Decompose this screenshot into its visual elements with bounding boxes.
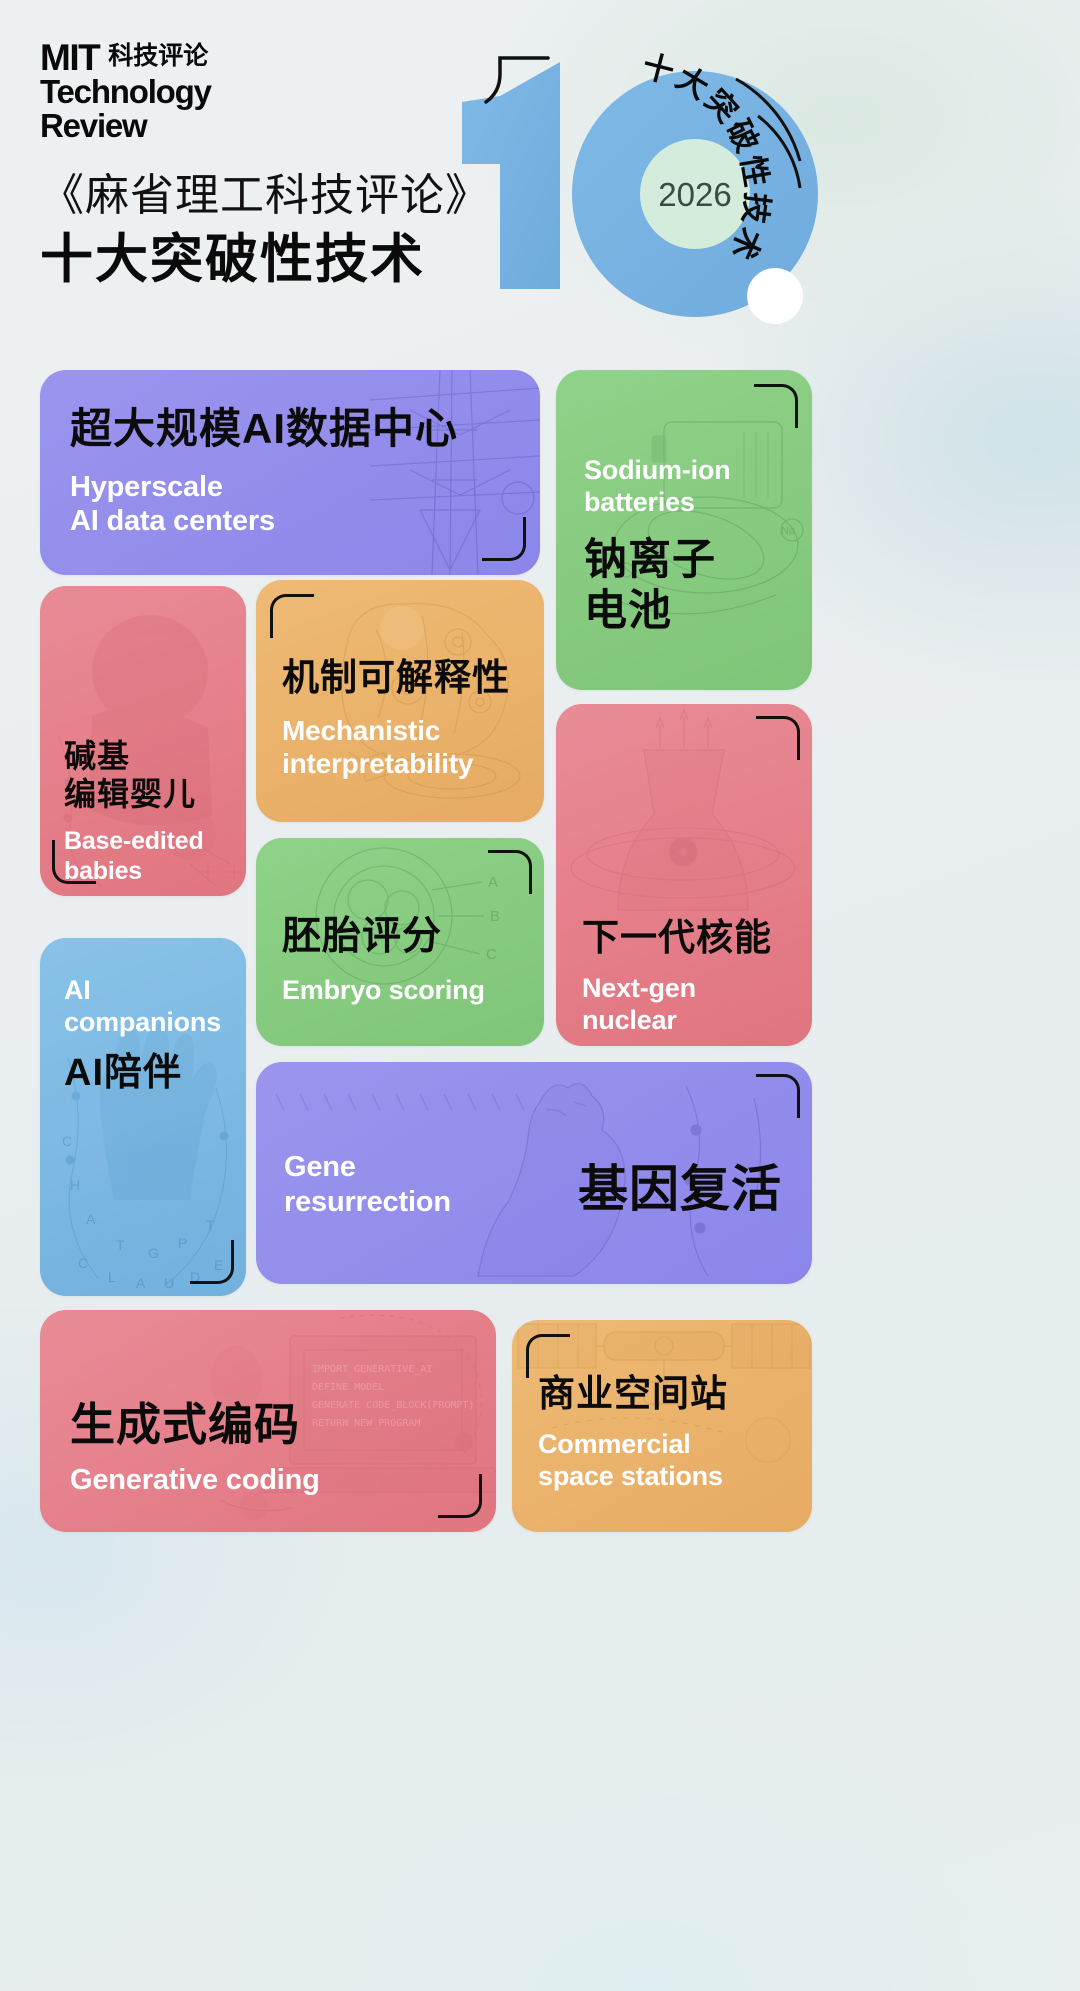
corner-bracket-icon xyxy=(190,1240,234,1284)
card-commercial-space-stations[interactable]: 商业空间站 Commercial space stations xyxy=(512,1320,812,1532)
card-subtitle-en-line2: resurrection xyxy=(284,1185,451,1220)
card-title-cn: 超大规模AI数据中心 xyxy=(70,404,458,454)
card-subtitle-en-line1: AI xyxy=(64,974,221,1006)
title-publication-name: 《麻省理工科技评论》 xyxy=(40,168,490,223)
corner-bracket-icon xyxy=(756,1074,800,1118)
card-next-gen-nuclear[interactable]: 下一代核能 Next-gen nuclear xyxy=(556,704,812,1046)
page-title: 《麻省理工科技评论》 十大突破性技术 xyxy=(40,168,490,293)
dna-letter-g: G xyxy=(148,1245,159,1261)
dna-letter-c2: C xyxy=(78,1255,88,1271)
corner-bracket-icon xyxy=(270,594,314,638)
dna-letter-a2: A xyxy=(136,1275,146,1291)
badge-digit-one xyxy=(462,62,560,289)
dna-letter-h: H xyxy=(70,1177,80,1193)
logo-mit-text: MIT xyxy=(40,40,99,75)
code-line-2: DEFINE MODEL xyxy=(312,1382,384,1393)
card-mechanistic-interpretability[interactable]: 机制可解释性 Mechanistic interpretability xyxy=(256,580,544,822)
badge-white-dot xyxy=(747,268,803,324)
logo-review-text: Review xyxy=(40,109,370,143)
logo-technology-text: Technology xyxy=(40,75,370,109)
card-gene-resurrection[interactable]: Gene resurrection 基因复活 xyxy=(256,1062,812,1284)
card-title-cn-line1: 碱基 xyxy=(64,738,204,776)
card-title-cn: 生成式编码 xyxy=(70,1398,320,1451)
corner-bracket-icon xyxy=(52,840,96,884)
dna-letter-p: P xyxy=(178,1235,187,1251)
card-subtitle-en: Embryo scoring xyxy=(282,974,485,1006)
corner-bracket-icon xyxy=(482,517,526,561)
card-subtitle-en-line2: AI data centers xyxy=(70,504,458,539)
svg-text:Na: Na xyxy=(781,525,796,537)
corner-bracket-icon xyxy=(488,850,532,894)
card-subtitle-en-line1: Next-gen xyxy=(582,972,772,1004)
card-base-edited-babies[interactable]: 碱基 编辑婴儿 Base-edited babies xyxy=(40,586,246,896)
card-subtitle-en-line1: Hyperscale xyxy=(70,470,458,505)
card-title-cn: 胚胎评分 xyxy=(282,914,485,960)
code-line-4: RETURN NEW_PROGRAM xyxy=(312,1418,420,1429)
card-generative-coding[interactable]: IMPORT GENERATIVE_AI DEFINE MODEL GENERA… xyxy=(40,1310,496,1532)
card-title-cn: 下一代核能 xyxy=(582,916,772,960)
dna-letter-t2: T xyxy=(206,1217,215,1233)
card-title-cn-line2: 编辑婴儿 xyxy=(64,776,204,814)
card-subtitle-en-line2: nuclear xyxy=(582,1004,772,1036)
card-title-cn: 基因复活 xyxy=(578,1160,782,1219)
mit-technology-review-logo: MIT 科技评论 Technology Review xyxy=(40,40,370,142)
card-title-cn-line1: 钠离子 xyxy=(584,535,730,586)
poster-header: MIT 科技评论 Technology Review 《麻省理工科技评论》 十大… xyxy=(0,0,1080,352)
dna-letter-t: T xyxy=(116,1237,125,1253)
embryo-mark-b: B xyxy=(490,908,500,925)
code-line-3: GENERATE CODE_BLOCK(PROMPT) xyxy=(312,1400,475,1411)
card-subtitle-en-line2: interpretability xyxy=(282,747,510,781)
card-subtitle-en: Generative coding xyxy=(70,1463,320,1498)
badge-year: 2026 xyxy=(658,176,731,213)
card-sodium-ion-batteries[interactable]: Na Sodium-ion batteries 钠离子 电池 xyxy=(556,370,812,690)
card-subtitle-en-line1: Gene xyxy=(284,1150,451,1185)
card-subtitle-en-line1: Sodium-ion xyxy=(584,454,730,486)
card-subtitle-en-line2: batteries xyxy=(584,486,730,518)
dna-letter-a: A xyxy=(86,1211,96,1227)
breakthrough-cards-grid: 超大规模AI数据中心 Hyperscale AI data centers xyxy=(0,352,1080,1991)
card-title-cn: 商业空间站 xyxy=(538,1372,728,1416)
card-hyperscale-ai-data-centers[interactable]: 超大规模AI数据中心 Hyperscale AI data centers xyxy=(40,370,540,575)
card-subtitle-en-line2: space stations xyxy=(538,1460,728,1492)
card-ai-companions[interactable]: C H A T G P T C L A U D E AI companions xyxy=(40,938,246,1296)
card-subtitle-en-line1: Commercial xyxy=(538,1428,728,1460)
card-subtitle-en-line2: companions xyxy=(64,1006,221,1038)
card-title-cn: 机制可解释性 xyxy=(282,656,510,700)
logo-first-row: MIT 科技评论 xyxy=(40,40,370,75)
corner-bracket-icon xyxy=(526,1334,570,1378)
title-main-heading: 十大突破性技术 xyxy=(40,227,490,293)
code-line-1: IMPORT GENERATIVE_AI xyxy=(312,1364,432,1375)
dna-letter-c: C xyxy=(62,1133,72,1149)
logo-chinese-text: 科技评论 xyxy=(108,40,208,74)
card-title-cn-line2: 电池 xyxy=(584,586,730,637)
corner-bracket-icon xyxy=(756,716,800,760)
dna-letter-l: L xyxy=(108,1269,116,1285)
card-embryo-scoring[interactable]: A B C 胚胎评分 Embryo scoring xyxy=(256,838,544,1046)
dna-letter-u: U xyxy=(164,1275,174,1291)
embryo-mark-c: C xyxy=(486,946,497,963)
corner-bracket-icon xyxy=(438,1474,482,1518)
card-subtitle-en-line1: Mechanistic xyxy=(282,714,510,748)
card-title-cn: AI陪伴 xyxy=(64,1051,221,1096)
corner-bracket-icon xyxy=(754,384,798,428)
ten-breakthrough-badge: 2026 十大突破性技术 xyxy=(440,44,860,334)
